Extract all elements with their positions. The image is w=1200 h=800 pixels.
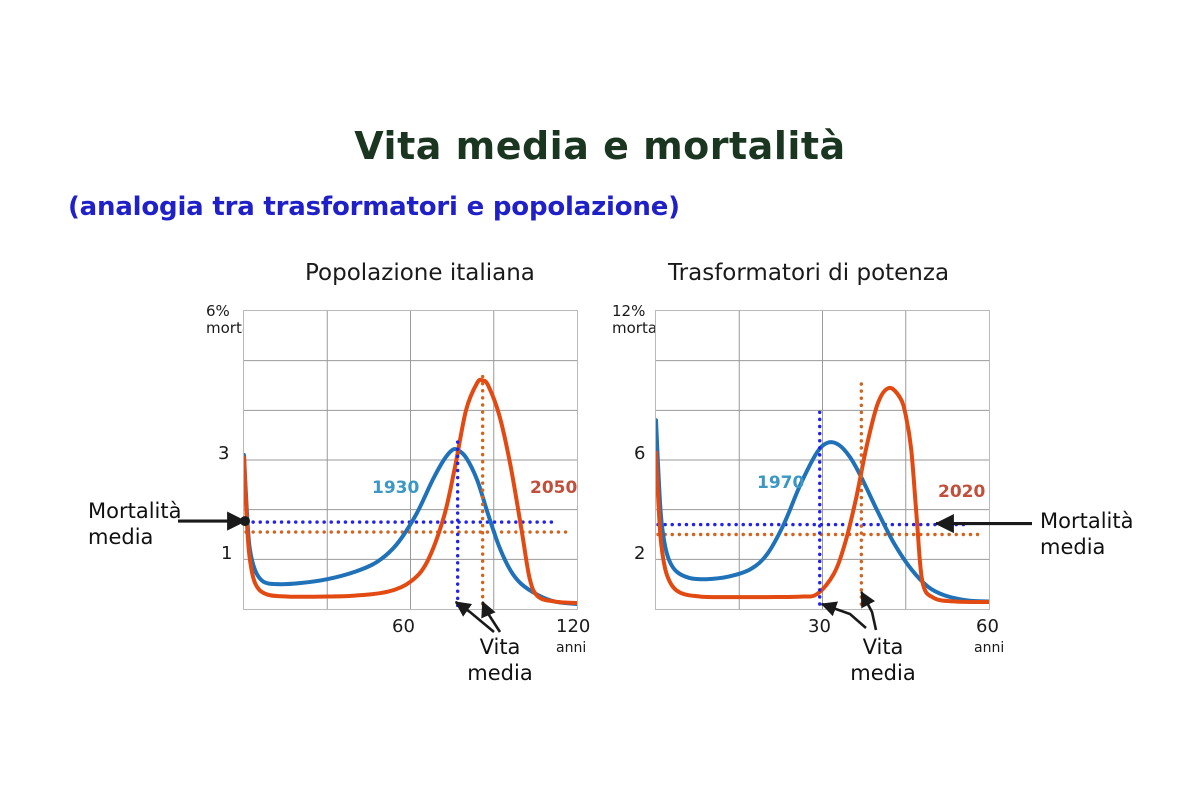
callout-mortalita-media-right: Mortalità media (1040, 508, 1133, 561)
y-tick-1-left: 1 (221, 543, 232, 564)
y-tick-6-right: 6 (634, 443, 645, 464)
slide-root: Vita media e mortalità (analogia tra tra… (0, 0, 1200, 800)
chart-title-trasformatori: Trasformatori di potenza (668, 260, 949, 286)
y-axis-max-left: 6% (206, 302, 230, 320)
x-tick-30-right: 30 (808, 616, 831, 637)
callout-line-2: media (467, 661, 532, 685)
y-tick-3-left: 3 (218, 443, 229, 464)
series-label-1970: 1970 (757, 473, 804, 493)
chart-plot-trasformatori (655, 310, 990, 610)
callout-vita-media-right: Vita media (838, 634, 928, 687)
annotation-arrows (0, 0, 1200, 800)
callout-line-1: Mortalità (1040, 509, 1133, 533)
x-tick-120-left: 120 (556, 616, 590, 637)
x-tick-60-left: 60 (392, 616, 415, 637)
y-tick-2-right: 2 (634, 543, 645, 564)
callout-line-1: Mortalità (88, 499, 181, 523)
callout-line-1: Vita (480, 635, 521, 659)
chart-title-popolazione: Popolazione italiana (305, 260, 535, 286)
callout-vita-media-left: Vita media (455, 634, 545, 687)
x-tick-60-right: 60 (976, 616, 999, 637)
callout-line-2: media (88, 525, 153, 549)
series-label-2050: 2050 (530, 478, 577, 498)
y-axis-max-right: 12% (612, 302, 645, 320)
callout-line-2: media (1040, 535, 1105, 559)
page-title: Vita media e mortalità (0, 124, 1200, 168)
x-unit-left: anni (556, 640, 586, 656)
series-label-2020: 2020 (938, 482, 985, 502)
chart-plot-popolazione (243, 310, 578, 610)
series-label-1930: 1930 (372, 478, 419, 498)
callout-line-1: Vita (863, 635, 904, 659)
x-unit-right: anni (974, 640, 1004, 656)
callout-mortalita-media-left: Mortalità media (88, 498, 181, 551)
page-subtitle: (analogia tra trasformatori e popolazion… (68, 192, 680, 222)
callout-line-2: media (850, 661, 915, 685)
